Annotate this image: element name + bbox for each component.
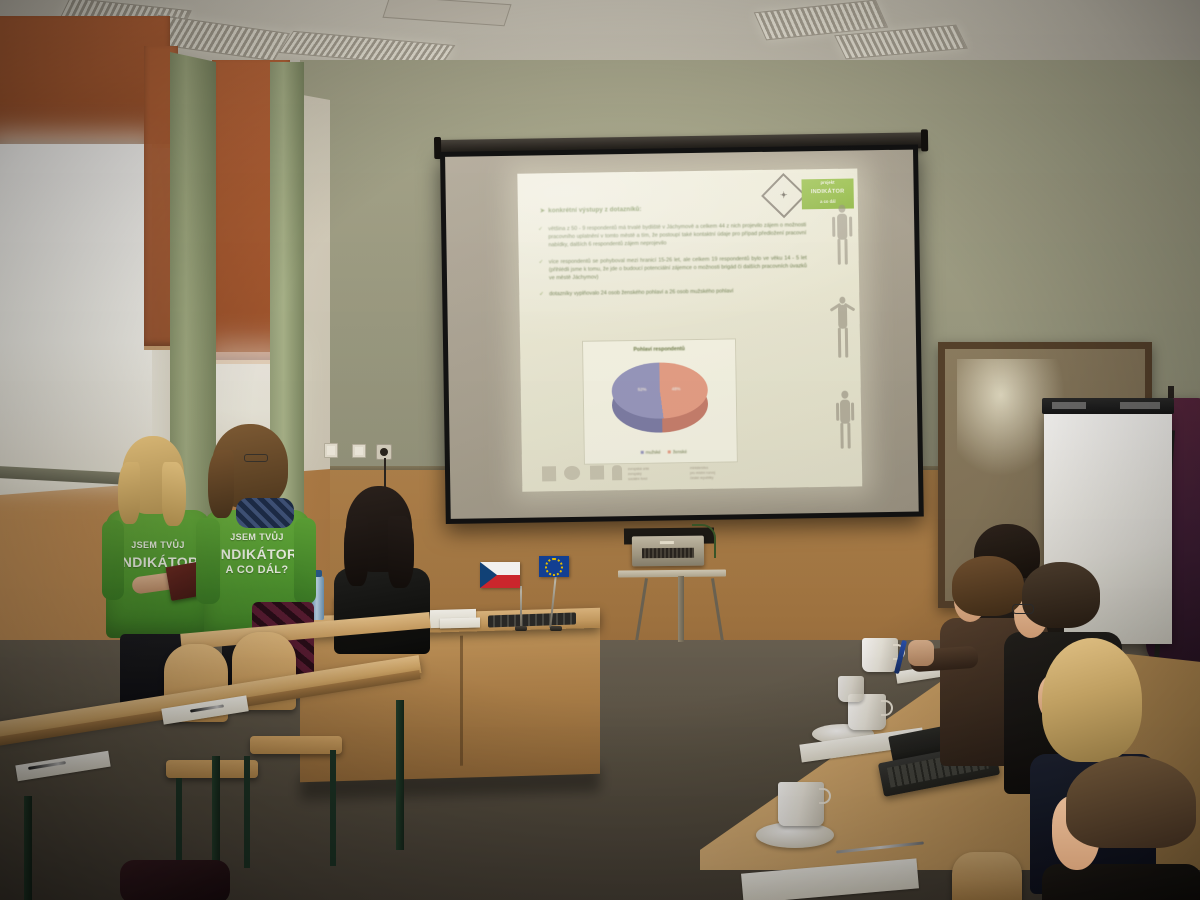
glasses-icon [244, 454, 268, 462]
window-left [0, 144, 152, 474]
arm [196, 518, 220, 604]
legend-label-female: ženské [673, 449, 687, 454]
projector-vent [642, 548, 694, 559]
flipchart-header [1042, 398, 1174, 414]
av-cart-top [618, 569, 726, 577]
hair-strand [118, 462, 140, 524]
pie-chart-panel: Pohlaví respondentů 52% 48% mužské žensk… [582, 338, 738, 464]
chart-legend: mužské ženské [585, 448, 737, 455]
sponsor-logo-icon [590, 465, 604, 479]
paper-sheet[interactable] [440, 617, 480, 628]
banner-line-2: INDIKÁTOR [802, 186, 854, 197]
projector-cable [692, 524, 716, 558]
slide-bullet: ✓ většina z 50 - 9 respondentů má trvalé… [538, 221, 806, 250]
check-icon: ✓ [538, 225, 543, 233]
slide-heading-text: konkrétní výstupy z dotazníků: [548, 206, 642, 214]
hair-strand [344, 516, 368, 586]
coffee-cup[interactable] [838, 676, 864, 702]
coffee-cup[interactable] [778, 782, 824, 826]
projected-slide: ✦ projekt INDIKÁTOR a co dál ➤konkrétní … [517, 168, 862, 491]
chart-title: Pohlaví respondentů [583, 345, 735, 353]
hand [908, 640, 934, 666]
pie-chart: 52% 48% [611, 362, 708, 435]
pie-slice-label: 48% [672, 386, 681, 391]
flag-european-union [539, 556, 569, 577]
projection-screen[interactable]: ✦ projekt INDIKÁTOR a co dál ➤konkrétní … [440, 144, 924, 523]
hair-strand [388, 516, 414, 588]
slide-bullet: ✓ více respondentů se pohyboval mezi hra… [539, 254, 807, 283]
flag-czech-republic [480, 562, 520, 588]
hair [1042, 638, 1142, 762]
person-audience-5 [1052, 756, 1200, 900]
human-figure-silhouette-icon [832, 205, 853, 267]
hair [1066, 756, 1196, 848]
hair-strand [162, 462, 186, 526]
sponsor-logo-icon [542, 466, 556, 481]
heading-marker-icon: ➤ [540, 207, 545, 214]
light-switch[interactable] [352, 444, 366, 458]
check-icon: ✓ [539, 291, 544, 299]
hair [1022, 562, 1100, 628]
classroom-photo-scene: ✦ projekt INDIKÁTOR a co dál ➤konkrétní … [0, 0, 1200, 900]
table-leg [24, 796, 32, 900]
flipchart-label [1120, 402, 1160, 409]
hair-strand [208, 450, 234, 518]
flipchart-label [1052, 402, 1086, 409]
slide-bullet-text: většina z 50 - 9 respondentů má trvalé b… [548, 222, 806, 248]
sponsor-logo-icon [612, 465, 622, 480]
slide-footer-logos: evropská unie evropský sociální fond min… [542, 461, 842, 484]
chair-seat[interactable] [250, 736, 342, 754]
flagpole [520, 586, 522, 628]
slide-bullet-text: dotazníky vyplňovalo 24 osob ženského po… [549, 289, 733, 298]
slide-heading: ➤konkrétní výstupy z dotazníků: [540, 204, 762, 216]
sponsor-text: evropská unie evropský sociální fond [628, 467, 649, 483]
light-switch[interactable] [324, 443, 338, 458]
table-leg [396, 700, 404, 850]
check-icon: ✓ [539, 258, 544, 266]
chair-frame [330, 750, 336, 866]
arm [294, 518, 316, 604]
glasses-icon [1012, 604, 1034, 614]
slide-bullet-text: více respondentů se pohyboval mezi hrani… [549, 255, 807, 281]
human-figure-silhouette-icon [835, 391, 856, 451]
arm [102, 520, 124, 600]
flag-base [550, 626, 562, 631]
chair[interactable] [952, 852, 1022, 900]
logo-glyph: ✦ [780, 190, 788, 201]
chair-frame [244, 756, 250, 868]
human-figure-silhouette-icon [831, 297, 854, 361]
legend-swatch-female [668, 451, 671, 454]
legend-label-male: mužské [646, 450, 661, 455]
coffee-cup[interactable] [862, 638, 898, 672]
legend-swatch-male [641, 451, 644, 454]
flag-base [515, 626, 527, 631]
bag-on-floor [120, 860, 230, 900]
sponsor-text: ministerstvo pro místní rozvoj české rep… [690, 466, 715, 482]
ceiling-duct [382, 0, 511, 26]
desk-panel-seam [460, 636, 463, 766]
pie-slice-label: 52% [638, 387, 647, 392]
av-cart-stem [678, 576, 684, 642]
projector-indicator [660, 541, 674, 544]
scarf [236, 498, 294, 528]
projection-screen-surface: ✦ projekt INDIKÁTOR a co dál ➤konkrétní … [445, 150, 919, 519]
sponsor-logo-icon [564, 466, 580, 480]
slide-bullet: ✓ dotazníky vyplňovalo 24 osob ženského … [539, 286, 807, 298]
slide-bullet-list: ✓ většina z 50 - 9 respondentů má trvalé… [538, 221, 807, 307]
project-diamond-logo-icon: ✦ [761, 173, 806, 218]
torso [1042, 864, 1200, 900]
